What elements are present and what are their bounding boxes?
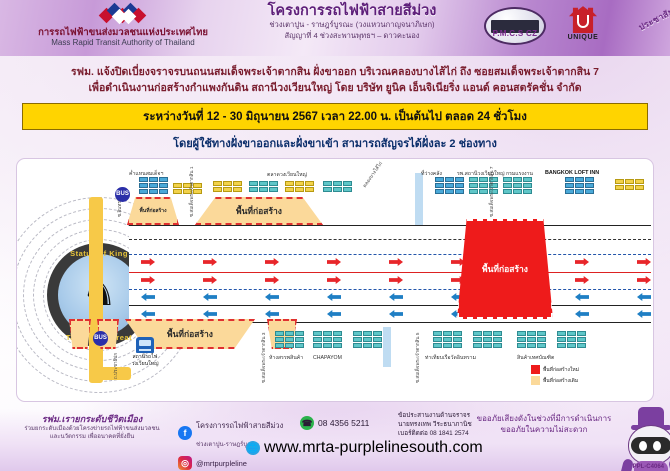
building-block-17 [517,331,546,348]
globe-icon[interactable]: 🌐 [246,441,260,455]
contact-title: ข้อประสานงานด้านจราจร [398,411,472,420]
construction-zone-1: พื้นที่ก่อสร้าง [127,197,179,225]
footer-slogan-block: รฟม.เรายกระดับชีวิตเมือง ร่วมยกระดับเมือ… [8,413,176,441]
building-block-14 [353,331,382,348]
project-title: โครงการรถไฟฟ้าสายสีม่วง [232,3,472,20]
taksin-road-band [129,225,651,323]
bus-stop-label: BUS [94,335,107,341]
pr-ribbon: ประชาสัมพันธ์ [635,0,670,34]
station-label-2: วงเวียนใหญ่ [119,361,171,367]
unique-logo-label: UNIQUE [556,34,610,41]
construction-zone-1-label: พื้นที่ก่อสร้าง [139,207,166,215]
page-header: การรถไฟฟ้าขนส่งมวลชนแห่งประเทศไทย Mass R… [0,0,670,56]
prachathipok-road-branch [89,367,131,380]
building-block-2 [173,183,202,194]
flyer-page: การรถไฟฟ้าขนส่งมวลชนแห่งประเทศไทย Mass R… [0,0,670,471]
footer-phone-row[interactable]: ☎ 08 4356 5211 [300,416,369,430]
instagram-label: @mrtpurpleline [196,459,247,468]
building-block-18 [557,331,586,348]
legend-swatch-existing [531,376,540,385]
construction-zone-new-label: พื้นที่ก่อสร้าง [482,262,528,276]
building-block-10 [565,177,594,194]
side-label-6: คลองบางไส้ไก่ [361,160,385,189]
side-label-1: ซ.สมเด็จพระเจ้าตากสิน 1 [189,167,196,217]
construction-zone-small-a [69,319,91,349]
unique-logo: UNIQUE [556,5,610,41]
building-block-16 [473,331,502,348]
building-block-6 [323,181,352,192]
canal-bar-1 [415,173,423,225]
pmcs-logo-icon: P.M.C.S CZ [484,7,546,45]
facebook-label: โครงการรถไฟฟ้าสายสีม่วง [196,421,283,430]
document-code: PPL-C4064 [633,464,664,470]
map-label-7: ท่าเทียบเรือวัดอินทราม [425,355,476,361]
bus-stop-label-2: BUS [116,191,129,197]
website-url: www.mrta-purplelinesouth.com [264,439,483,457]
legend-item-new: พื้นที่ก่อสร้างใหม่ [531,365,579,374]
construction-zone-new: พื้นที่ก่อสร้าง [457,219,553,319]
project-subtitle-2: สัญญาที่ 4 ช่วงสะพานพุทธฯ – ดาวคะนอง [232,31,472,42]
date-banner-wrap: ระหว่างวันที่ 12 - 30 มิถุนายน 2567 เวลา… [22,103,648,152]
construction-zone-3-label: พื้นที่ก่อสร้าง [167,327,213,341]
instagram-icon[interactable]: ◎ [178,456,192,470]
map-label-4: BANGKOK LOFT INN [545,170,599,176]
contractor-logos: P.M.C.S CZ UNIQUE [484,5,614,53]
footer-tagline-1: ร่วมยกระดับเมืองด้วยโครงข่ายรถไฟฟ้าขนส่ง… [8,425,176,433]
footer-instagram-row[interactable]: ◎ @mrtpurpleline [178,456,378,470]
prachathipok-road [89,197,103,383]
project-heading: โครงการรถไฟฟ้าสายสีม่วง ช่วงเตาปูน - ราษ… [232,3,472,41]
side-label-5: ซ.สมเด็จพระเจ้าตากสิน 7 [489,167,496,217]
pmcs-logo-label: P.M.C.S CZ [484,29,546,38]
contact-phone: เบอร์ติดต่อ 08 1841 2574 [398,429,472,438]
traffic-diversion-map: Statue of King ♞ Taksin the Great [16,158,654,402]
footer-slogan: รฟม.เรายกระดับชีวิตเมือง [8,413,176,425]
building-block-1 [139,177,168,194]
legend-label-new: พื้นที่ก่อสร้างใหม่ [543,366,579,374]
building-block-11 [615,179,644,190]
announcement-line-1: รฟม. แจ้งปิดเบี่ยงจราจรบนถนนสมเด็จพระเจ้… [24,64,646,80]
legend-item-existing: พื้นที่ก่อสร้างเดิม [531,376,579,385]
map-label-2: ที่ว่างคลัง [421,171,442,177]
building-block-4 [249,181,278,192]
contact-name: นายทรงเทพ วีระธนาภานิช [398,420,472,429]
map-label-8: สินค้าเทศบัณฑิต [517,355,554,361]
canal-bar-2 [383,327,391,367]
phone-number: 08 4356 5211 [318,418,369,428]
map-legend: พื้นที่ก่อสร้างใหม่ พื้นที่ก่อสร้างเดิม [531,365,579,387]
train-icon [136,337,154,353]
date-banner: ระหว่างวันที่ 12 - 30 มิถุนายน 2567 เวลา… [22,103,648,130]
map-label-6: CHAPAYOM [313,355,342,361]
date-banner-text: ระหว่างวันที่ 12 - 30 มิถุนายน 2567 เวลา… [143,111,527,123]
agency-name-en: Mass Rapid Transit Authority of Thailand [18,38,228,48]
map-label-5: ห้างสรรพสินค้า [269,355,303,361]
map-label-0: ค่ำแหนสมเด็จฯ [129,171,163,177]
building-block-12 [275,331,304,348]
lane-note-text: โดยผู้ใช้ทางฝั่งขาออกและฝั่งขาเข้า สามาร… [173,138,497,150]
mrta-mascot-icon [620,409,666,465]
phone-icon[interactable]: ☎ [300,416,314,430]
wongwian-yai-train-station: สถานีรถไฟ วงเวียนใหญ่ [119,337,171,367]
building-block-7 [435,177,464,194]
apology-line-1: ขออภัยเสียงดังในช่วงที่มีการดำเนินการ [470,413,618,424]
announcement-line-2: เพื่อดำเนินงานก่อสร้างกำแพงกันดิน สถานีว… [24,80,646,96]
unique-logo-icon [569,5,597,33]
agency-branding: การรถไฟฟ้าขนส่งมวลชนแห่งประเทศไทย Mass R… [18,4,228,48]
facebook-icon[interactable]: f [178,426,192,440]
building-block-15 [433,331,462,348]
building-block-13 [313,331,342,348]
footer-tagline-2: และนวัตกรรม เพื่ออนาคตที่ยั่งยืน [8,433,176,441]
legend-swatch-new [531,365,540,374]
bus-stop-icon-2: BUS [115,187,130,202]
building-block-9 [503,177,532,194]
building-block-3 [213,181,242,192]
construction-zone-2: พื้นที่ก่อสร้าง [195,197,323,225]
apology-line-2: ขออภัยในความไม่สะดวก [470,424,618,435]
legend-label-existing: พื้นที่ก่อสร้างเดิม [543,377,578,385]
agency-name-th: การรถไฟฟ้าขนส่งมวลชนแห่งประเทศไทย [18,27,228,38]
side-label-4: ซ.สมเด็จพระเจ้าตากสิน 5 [415,333,422,383]
project-subtitle-1: ช่วงเตาปูน - ราษฎร์บูรณะ (วงแหวนกาญจนาภิ… [232,20,472,31]
side-label-3: ซ.สมเด็จพระเจ้าตากสิน 3 [261,333,268,383]
lane-note: โดยผู้ใช้ทางฝั่งขาออกและฝั่งขาเข้า สามาร… [22,134,648,152]
footer-apology-block: ขออภัยเสียงดังในช่วงที่มีการดำเนินการ ขอ… [470,413,618,435]
footer-contact-block: ข้อประสานงานด้านจราจร นายทรงเทพ วีระธนาภ… [398,411,472,438]
mrta-logo-icon [101,4,145,26]
bus-stop-icon: BUS [93,331,108,346]
map-label-1: ตลาดวงเวียนใหญ่ [267,172,307,178]
building-block-5 [285,181,314,192]
page-footer: รฟม.เรายกระดับชีวิตเมือง ร่วมยกระดับเมือ… [0,409,670,471]
construction-zone-2-label: พื้นที่ก่อสร้าง [236,204,282,218]
station-label-1: สถานีรถไฟ [119,354,171,360]
footer-web-row[interactable]: 🌐 www.mrta-purplelinesouth.com [246,439,483,457]
announcement-block: รฟม. แจ้งปิดเบี่ยงจราจรบนถนนสมเด็จพระเจ้… [0,64,670,96]
